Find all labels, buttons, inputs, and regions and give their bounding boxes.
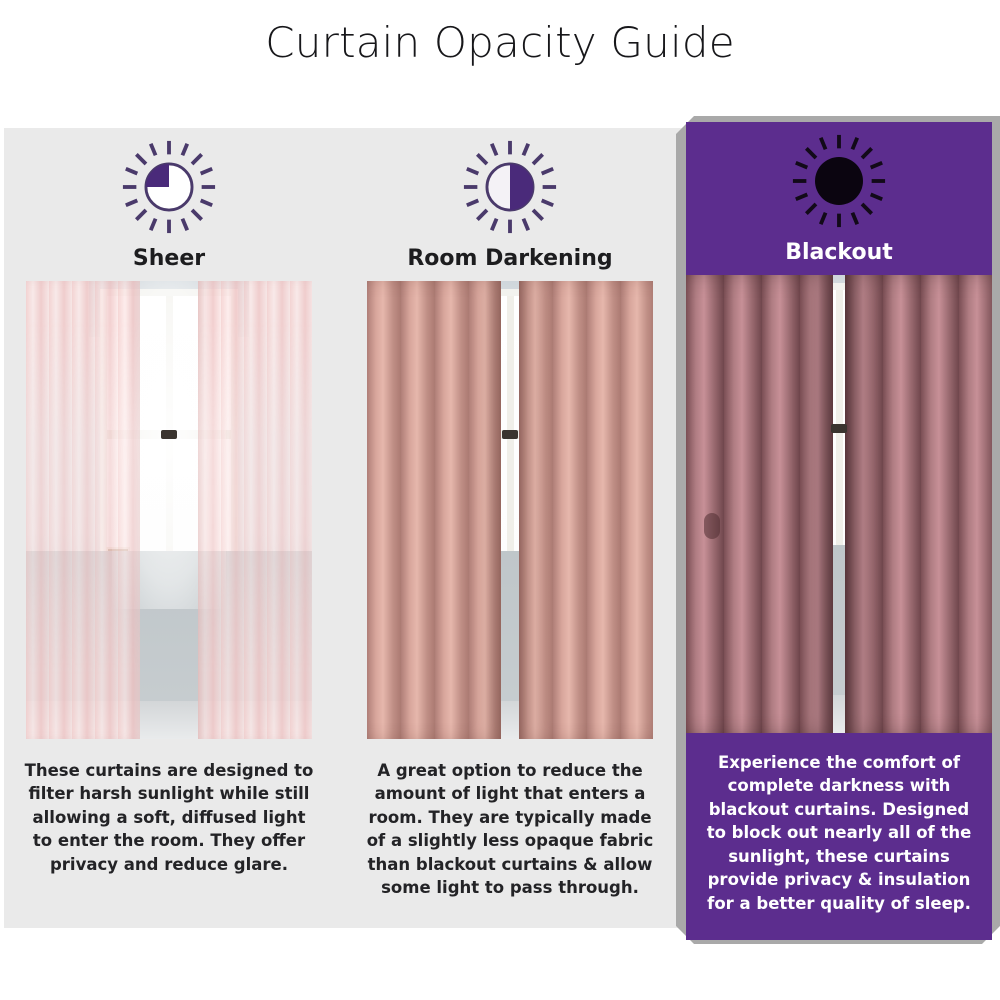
curtain-panel-left: [686, 275, 833, 733]
column-heading-room-darkening: Room Darkening: [345, 246, 675, 281]
page-title: Curtain Opacity Guide: [0, 18, 1000, 67]
sun-fully-filled-icon: [686, 122, 992, 240]
column-description-room-darkening: A great option to reduce the amount of l…: [345, 739, 675, 900]
curtain-panel-right: [198, 281, 312, 739]
curtain-panel-right: [845, 275, 992, 733]
column-description-sheer: These curtains are designed to filter ha…: [4, 739, 334, 876]
column-description-blackout: Experience the comfort of complete darkn…: [686, 733, 992, 915]
curtain-photo-blackout: [686, 275, 992, 733]
infographic-root: Curtain Opacity Guide: [0, 0, 1000, 1000]
curtain-panel-left: [26, 281, 140, 739]
column-room-darkening[interactable]: Room Darkening A great option to reduce …: [345, 128, 675, 900]
column-heading-sheer: Sheer: [4, 246, 334, 281]
window-latch: [831, 424, 847, 433]
column-sheer[interactable]: Sheer These curtains are designed to fil…: [4, 128, 334, 876]
sun-half-filled-icon: [345, 128, 675, 246]
window-latch: [502, 430, 518, 439]
curtain-panel-left: [367, 281, 501, 739]
column-blackout[interactable]: Blackout Experience the comfort of compl…: [686, 122, 992, 940]
column-heading-blackout: Blackout: [686, 240, 992, 275]
curtain-photo-room-darkening: [367, 281, 653, 739]
curtain-panel-right: [519, 281, 653, 739]
window-latch: [161, 430, 177, 439]
sun-quarter-filled-icon: [4, 128, 334, 246]
curtain-photo-sheer: [26, 281, 312, 739]
curtain-tieback: [704, 513, 720, 539]
